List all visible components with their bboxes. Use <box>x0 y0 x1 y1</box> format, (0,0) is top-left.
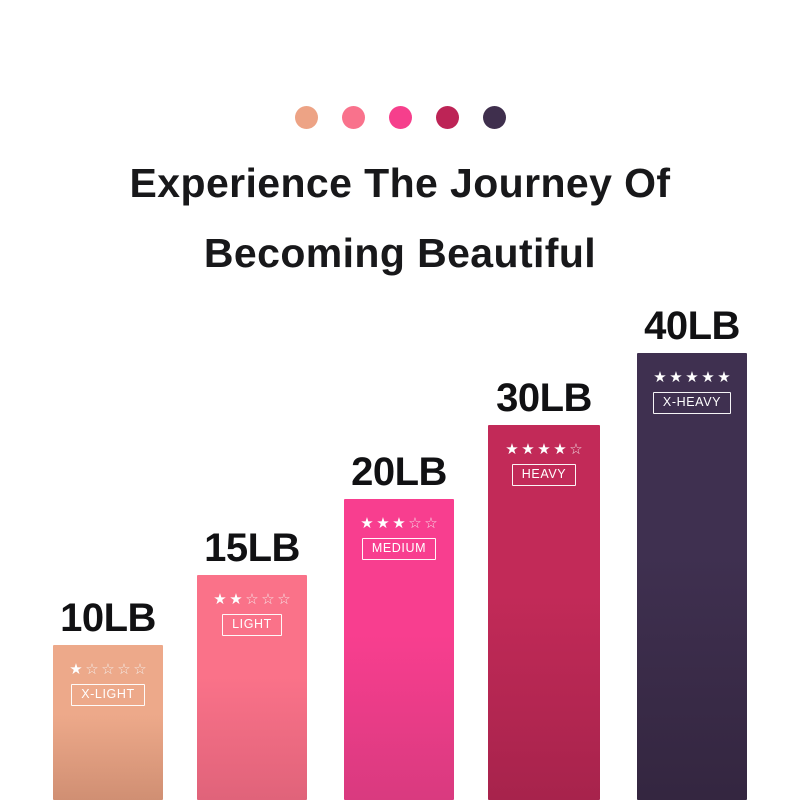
bar-content: ★★★☆☆MEDIUM <box>344 499 454 560</box>
bar-bottom-fade <box>488 790 600 800</box>
bar-column: ★★★★☆HEAVY <box>488 425 600 800</box>
bar-content: ★★★★★X-HEAVY <box>637 353 747 414</box>
bar-30lb[interactable]: 30LB★★★★☆HEAVY <box>488 425 600 800</box>
star-empty-icon: ☆ <box>408 516 423 531</box>
resistance-level-badge: MEDIUM <box>362 538 436 560</box>
bar-bottom-fade <box>197 790 307 800</box>
resistance-band-bar-chart: 10LB★☆☆☆☆X-LIGHT15LB★★☆☆☆LIGHT20LB★★★☆☆M… <box>0 0 800 800</box>
star-filled-icon: ★ <box>521 442 536 457</box>
star-filled-icon: ★ <box>376 516 391 531</box>
star-filled-icon: ★ <box>229 592 244 607</box>
bar-value-label: 20LB <box>351 448 447 499</box>
star-empty-icon: ☆ <box>85 662 100 677</box>
bar-content: ★☆☆☆☆X-LIGHT <box>53 645 163 706</box>
star-empty-icon: ☆ <box>245 592 260 607</box>
resistance-level-badge: X-LIGHT <box>71 684 145 706</box>
bar-bottom-fade <box>637 790 747 800</box>
star-empty-icon: ☆ <box>277 592 292 607</box>
star-filled-icon: ★ <box>537 442 552 457</box>
resistance-level-badge: LIGHT <box>222 614 282 636</box>
bar-10lb[interactable]: 10LB★☆☆☆☆X-LIGHT <box>53 645 163 800</box>
star-empty-icon: ☆ <box>101 662 116 677</box>
rating-stars: ★★★★☆ <box>505 442 584 457</box>
bar-column: ★☆☆☆☆X-LIGHT <box>53 645 163 800</box>
bar-value-label: 15LB <box>204 524 300 575</box>
star-filled-icon: ★ <box>685 370 700 385</box>
star-empty-icon: ☆ <box>569 442 584 457</box>
star-filled-icon: ★ <box>701 370 716 385</box>
bar-bottom-fade <box>344 790 454 800</box>
rating-stars: ★☆☆☆☆ <box>69 662 148 677</box>
star-filled-icon: ★ <box>717 370 732 385</box>
star-filled-icon: ★ <box>360 516 375 531</box>
star-filled-icon: ★ <box>505 442 520 457</box>
star-filled-icon: ★ <box>69 662 84 677</box>
bar-20lb[interactable]: 20LB★★★☆☆MEDIUM <box>344 499 454 800</box>
bar-content: ★★★★☆HEAVY <box>488 425 600 486</box>
star-filled-icon: ★ <box>553 442 568 457</box>
star-empty-icon: ☆ <box>424 516 439 531</box>
bar-content: ★★☆☆☆LIGHT <box>197 575 307 636</box>
star-filled-icon: ★ <box>669 370 684 385</box>
bar-15lb[interactable]: 15LB★★☆☆☆LIGHT <box>197 575 307 800</box>
star-empty-icon: ☆ <box>133 662 148 677</box>
star-filled-icon: ★ <box>213 592 228 607</box>
star-filled-icon: ★ <box>392 516 407 531</box>
resistance-level-badge: X-HEAVY <box>653 392 731 414</box>
bar-column: ★★☆☆☆LIGHT <box>197 575 307 800</box>
bar-column: ★★★☆☆MEDIUM <box>344 499 454 800</box>
bar-value-label: 10LB <box>60 594 156 645</box>
star-empty-icon: ☆ <box>261 592 276 607</box>
rating-stars: ★★☆☆☆ <box>213 592 292 607</box>
rating-stars: ★★★★★ <box>653 370 732 385</box>
bar-column: ★★★★★X-HEAVY <box>637 353 747 800</box>
bar-value-label: 40LB <box>644 302 740 353</box>
bar-40lb[interactable]: 40LB★★★★★X-HEAVY <box>637 353 747 800</box>
infographic-root: Experience The Journey Of Becoming Beaut… <box>0 0 800 800</box>
bar-value-label: 30LB <box>496 374 592 425</box>
star-filled-icon: ★ <box>653 370 668 385</box>
star-empty-icon: ☆ <box>117 662 132 677</box>
rating-stars: ★★★☆☆ <box>360 516 439 531</box>
bar-bottom-fade <box>53 790 163 800</box>
resistance-level-badge: HEAVY <box>512 464 576 486</box>
